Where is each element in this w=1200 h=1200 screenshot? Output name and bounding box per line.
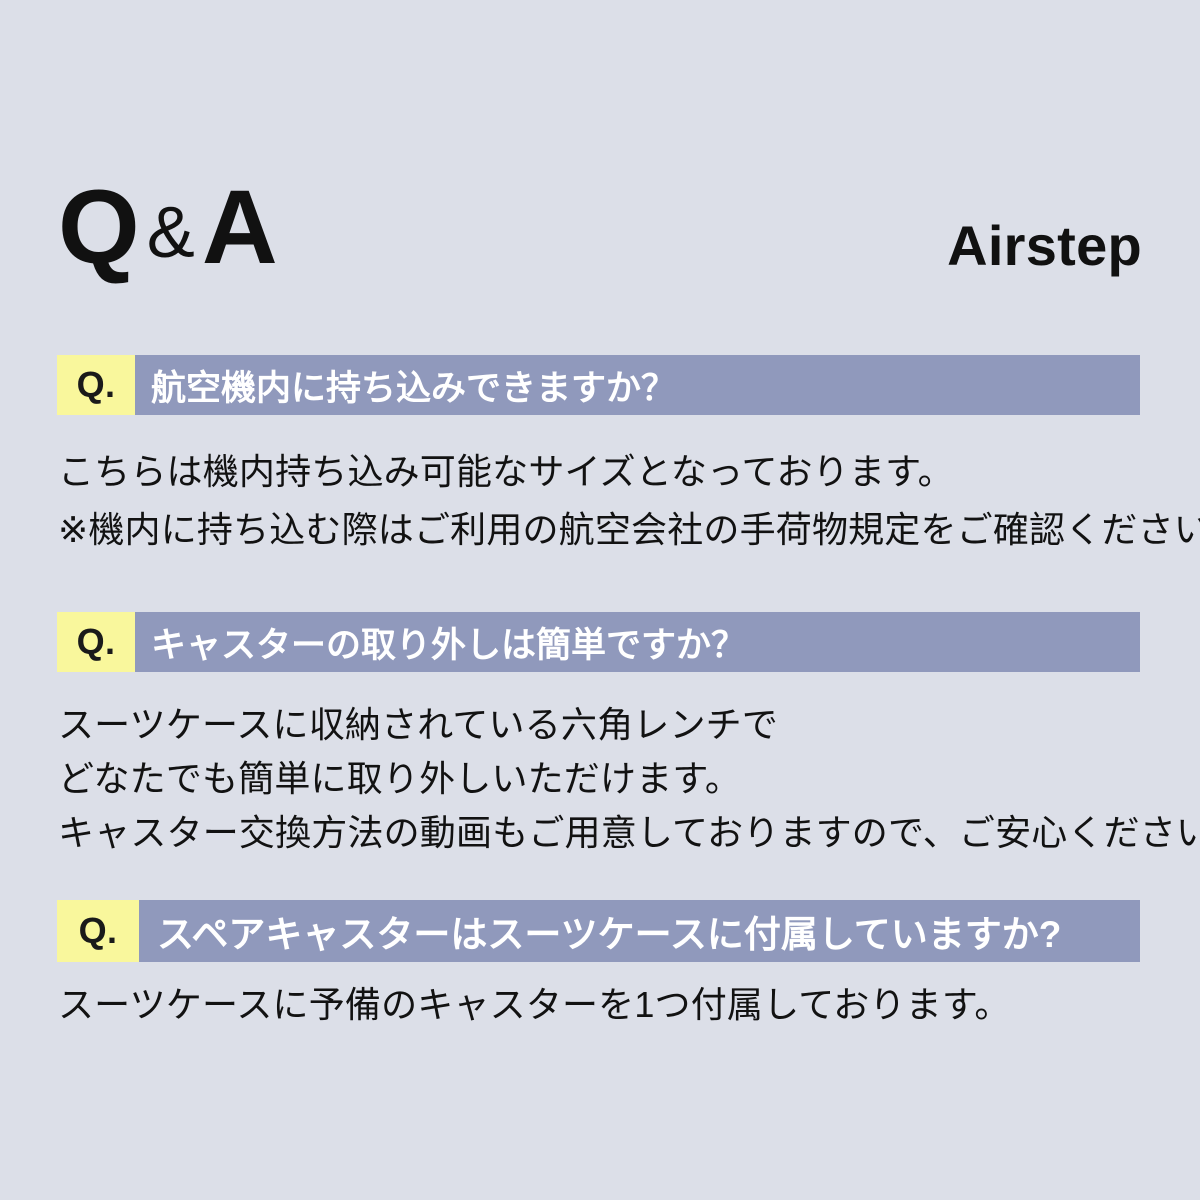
answer-line: キャスター交換方法の動画もご用意しておりますので、ご安心ください。 (58, 806, 1141, 860)
answer-line: ※機内に持ち込む際はご利用の航空会社の手荷物規定をご確認ください。 (58, 501, 1141, 559)
faq-item-2: Q. キャスターの取り外しは簡単ですか？ スーツケースに収納されている六角レンチ… (57, 612, 1141, 860)
page-title-a: A (202, 169, 279, 286)
page-title-ampersand: & (141, 193, 202, 273)
question-bar-1: Q. 航空機内に持ち込みできますか？ (57, 355, 1140, 415)
answer-line: どなたでも簡単に取り外しいただけます。 (58, 752, 1141, 806)
answer-line: スーツケースに予備のキャスターを1つ付属しております。 (58, 978, 1141, 1032)
page-title-q: Q (58, 169, 141, 286)
page-title: Q&A (58, 175, 279, 280)
question-text-2: キャスターの取り外しは簡単ですか？ (135, 612, 1140, 672)
brand-logo: Airstep (947, 218, 1142, 280)
question-text-3: スペアキャスターはスーツケースに付属していますか? (139, 900, 1140, 962)
question-text-1: 航空機内に持ち込みできますか？ (135, 355, 1140, 415)
question-badge-1: Q. (57, 355, 135, 415)
question-bar-3: Q. スペアキャスターはスーツケースに付属していますか? (57, 900, 1140, 962)
question-badge-2: Q. (57, 612, 135, 672)
faq-item-1: Q. 航空機内に持ち込みできますか？ こちらは機内持ち込み可能なサイズとなってお… (57, 355, 1141, 559)
answer-body-1: こちらは機内持ち込み可能なサイズとなっております。 ※機内に持ち込む際はご利用の… (58, 443, 1141, 559)
faq-page: Q&A Airstep Q. 航空機内に持ち込みできますか？ こちらは機内持ち込… (0, 0, 1200, 1200)
answer-line: こちらは機内持ち込み可能なサイズとなっております。 (58, 443, 1141, 501)
answer-line: スーツケースに収納されている六角レンチで (58, 698, 1141, 752)
question-bar-2: Q. キャスターの取り外しは簡単ですか？ (57, 612, 1140, 672)
page-header: Q&A Airstep (58, 150, 1142, 280)
answer-body-3: スーツケースに予備のキャスターを1つ付属しております。 (58, 978, 1141, 1032)
faq-item-3: Q. スペアキャスターはスーツケースに付属していますか? スーツケースに予備のキ… (57, 900, 1141, 1032)
answer-body-2: スーツケースに収納されている六角レンチで どなたでも簡単に取り外しいただけます。… (58, 698, 1141, 860)
question-badge-3: Q. (57, 900, 139, 962)
